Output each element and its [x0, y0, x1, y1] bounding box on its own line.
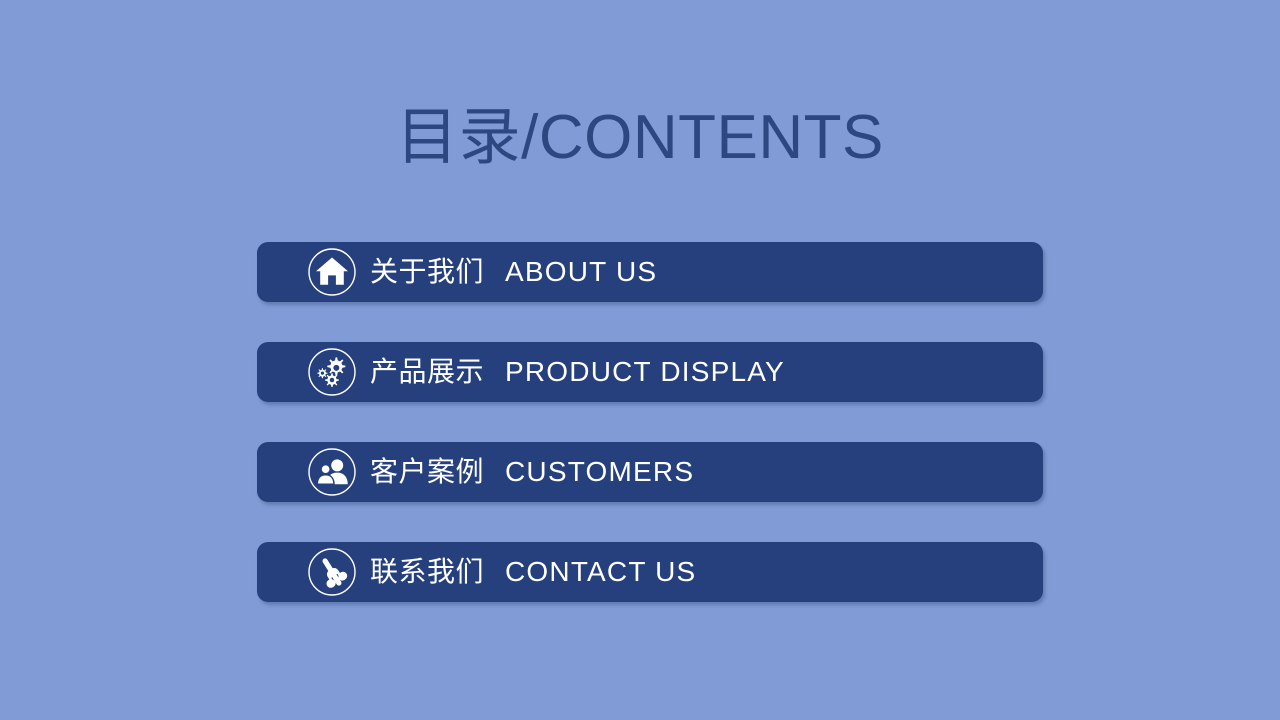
contents-item-label-group: 联系我们 CONTACT US	[370, 557, 696, 587]
home-icon	[307, 247, 357, 297]
contents-item-customers[interactable]: 客户案例 CUSTOMERS	[257, 442, 1043, 502]
contents-item-label-cn: 关于我们	[370, 257, 484, 287]
contents-item-label-en: CUSTOMERS	[505, 457, 694, 487]
contents-item-label-group: 客户案例 CUSTOMERS	[370, 457, 694, 487]
gears-icon	[307, 347, 357, 397]
contents-item-label-en: CONTACT US	[505, 557, 696, 587]
contents-item-label-cn: 客户案例	[370, 457, 484, 487]
phone-icon	[307, 547, 357, 597]
contents-item-product-display[interactable]: 产品展示 PRODUCT DISPLAY	[257, 342, 1043, 402]
contents-list: 关于我们 ABOUT US	[257, 242, 1043, 602]
contents-item-label-cn: 联系我们	[370, 557, 484, 587]
contents-item-label-group: 关于我们 ABOUT US	[370, 257, 657, 287]
contents-item-label-en: PRODUCT DISPLAY	[505, 357, 785, 387]
contents-item-about-us[interactable]: 关于我们 ABOUT US	[257, 242, 1043, 302]
page-title: 目录/CONTENTS	[0, 101, 1280, 175]
contents-item-label-cn: 产品展示	[370, 357, 484, 387]
users-icon	[307, 447, 357, 497]
contents-item-contact-us[interactable]: 联系我们 CONTACT US	[257, 542, 1043, 602]
presentation-slide: 目录/CONTENTS 关于我们 ABOUT US	[0, 0, 1280, 720]
contents-item-label-group: 产品展示 PRODUCT DISPLAY	[370, 357, 785, 387]
contents-item-label-en: ABOUT US	[505, 257, 657, 287]
